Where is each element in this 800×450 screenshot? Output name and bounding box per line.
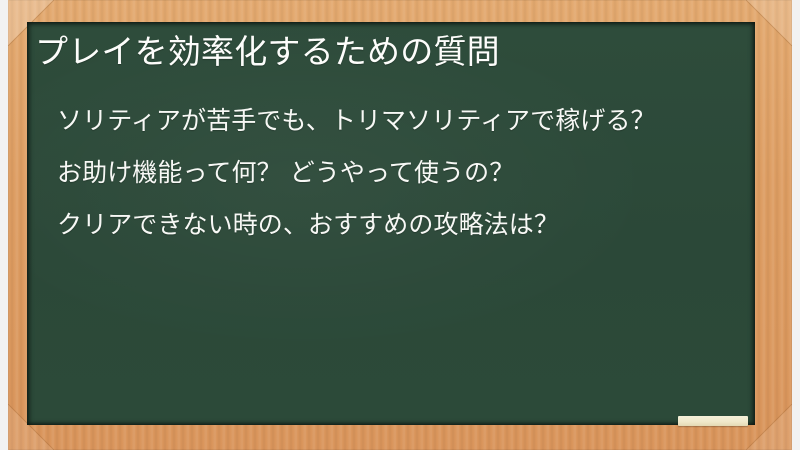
page-edge-right: [792, 0, 800, 450]
question-item: お助け機能って何？ どうやって使うの？: [57, 152, 729, 193]
question-item: ソリティアが苦手でも、トリマソリティアで稼げる？: [57, 100, 729, 141]
page-edge-left: [0, 0, 8, 450]
chalkboard-slide: プレイを効率化するための質問 ソリティアが苦手でも、トリマソリティアで稼げる？ …: [0, 0, 800, 450]
slide-title: プレイを効率化するための質問: [35, 30, 735, 74]
question-item: クリアできない時の、おすすめの攻略法は？: [57, 204, 729, 245]
chalkboard-content: プレイを効率化するための質問 ソリティアが苦手でも、トリマソリティアで稼げる？ …: [27, 22, 755, 425]
question-list: ソリティアが苦手でも、トリマソリティアで稼げる？ お助け機能って何？ どうやって…: [57, 100, 729, 245]
chalk-piece-icon: [678, 416, 748, 426]
chalkboard-surface: プレイを効率化するための質問 ソリティアが苦手でも、トリマソリティアで稼げる？ …: [27, 22, 755, 425]
